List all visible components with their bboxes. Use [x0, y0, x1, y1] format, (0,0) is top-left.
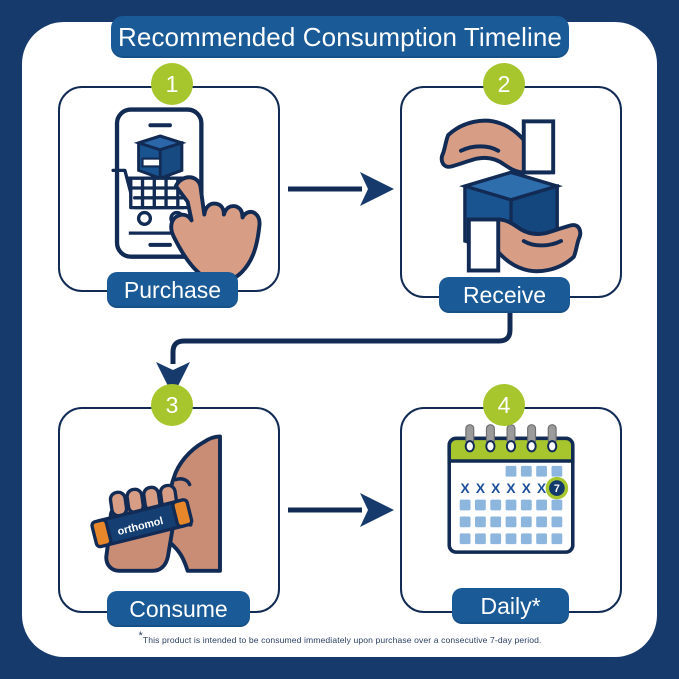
step-label-purchase[interactable]: Purchase — [107, 272, 238, 308]
step-label-daily[interactable]: Daily* — [452, 588, 569, 624]
page-title: Recommended Consumption Timeline — [111, 16, 569, 58]
infographic-root: Recommended Consumption Timeline — [0, 0, 679, 679]
footnote: *This product is intended to be consumed… — [40, 630, 640, 645]
step-number-badge-4: 4 — [483, 384, 525, 426]
footnote-text: This product is intended to be consumed … — [143, 635, 542, 645]
step-number-badge-2: 2 — [483, 63, 525, 105]
arrowhead-3-to-4 — [360, 493, 394, 527]
step-number-badge-3: 3 — [151, 384, 193, 426]
arrowhead-1-to-2 — [360, 172, 394, 206]
connector-arrows — [0, 0, 679, 679]
step-number-badge-1: 1 — [151, 63, 193, 105]
step-label-receive[interactable]: Receive — [439, 277, 570, 313]
step-label-consume[interactable]: Consume — [107, 591, 250, 627]
